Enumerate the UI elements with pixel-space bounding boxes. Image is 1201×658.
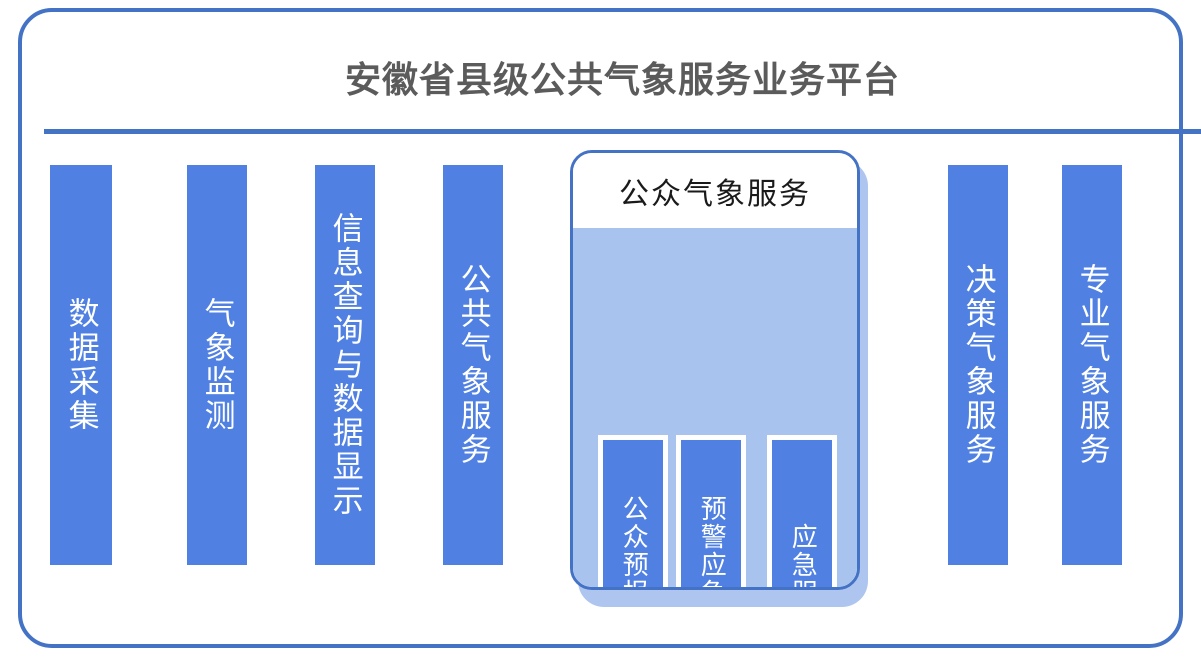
pillar-professional-weather-service[interactable]: 专业气象服务: [1062, 165, 1122, 565]
inner-pillar-label: 应急服务: [788, 523, 817, 590]
inner-pillar-public-forecast-products[interactable]: 公众预报产品: [598, 435, 668, 590]
pillar-label: 气象监测: [199, 297, 234, 433]
pillar-decision-weather-service[interactable]: 决策气象服务: [948, 165, 1008, 565]
platform-title-bar: 安徽省县级公共气象服务业务平台: [44, 24, 1201, 129]
pillar-label: 数据采集: [63, 297, 98, 433]
center-panel-body: 公众预报产品 预警应急系统 应急服务: [573, 228, 857, 587]
pillar-label: 专业气象服务: [1074, 263, 1109, 467]
diagram-canvas: 安徽省县级公共气象服务业务平台 数据采集 气象监测 信息查询与数据显示 公共气象…: [0, 0, 1201, 658]
pillar-data-collection[interactable]: 数据采集: [50, 165, 112, 565]
pillar-label: 决策气象服务: [960, 263, 995, 467]
pillar-public-weather-service[interactable]: 公共气象服务: [443, 165, 503, 565]
center-panel-public-weather-service[interactable]: 公众气象服务 公众预报产品 预警应急系统 应急服务: [570, 150, 860, 590]
inner-pillar-label: 预警应急系统: [697, 495, 726, 590]
pillar-weather-monitoring[interactable]: 气象监测: [187, 165, 247, 565]
inner-pillar-emergency-service[interactable]: 应急服务: [767, 435, 837, 590]
pillar-label: 公共气象服务: [455, 263, 490, 467]
inner-pillar-label: 公众预报产品: [619, 495, 648, 590]
center-panel-header-label: 公众气象服务: [619, 169, 811, 213]
inner-pillar-warning-emergency-system[interactable]: 预警应急系统: [676, 435, 746, 590]
title-divider: [44, 129, 1201, 134]
center-panel-header: 公众气象服务: [573, 153, 857, 228]
pillar-label: 信息查询与数据显示: [327, 212, 362, 518]
pillar-info-query-display[interactable]: 信息查询与数据显示: [315, 165, 375, 565]
page-title: 安徽省县级公共气象服务业务平台: [345, 51, 900, 103]
